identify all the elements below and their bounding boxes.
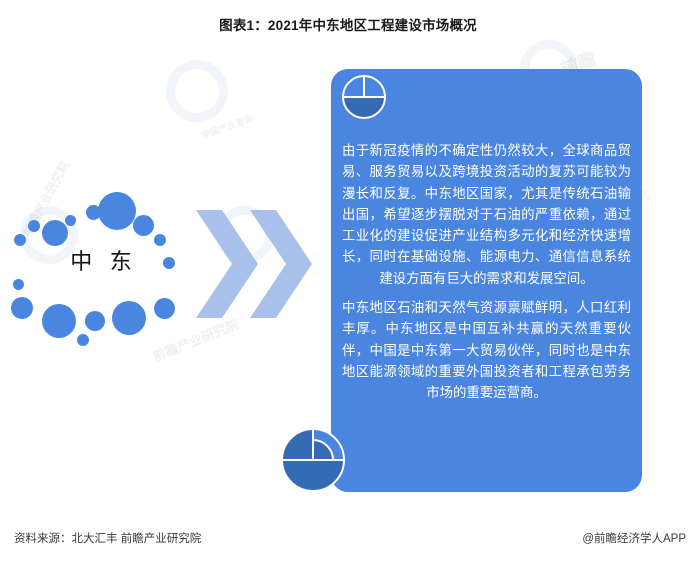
panel-paragraph-2: 中东地区石油和天然气资源禀赋鲜明，人口红利丰厚。中东地区是中国互补共赢的天然重要… (342, 297, 631, 403)
panel-paragraphs: 由于新冠疫情的不确定性仍然较大，全球商品贸易、服务贸易以及跨境投资活动的复苏可能… (342, 140, 631, 404)
region-label: 中 东 (14, 186, 194, 334)
panel-paragraph-1: 由于新冠疫情的不确定性仍然较大，全球商品贸易、服务贸易以及跨境投资活动的复苏可能… (342, 140, 631, 289)
watermark-text: 中国产业咨询 (199, 111, 254, 142)
double-chevron-right-icon (196, 210, 312, 318)
source-note: 资料来源：北大汇丰 前瞻产业研究院 (14, 530, 201, 546)
app-credit: @前瞻经济学人APP (582, 530, 686, 546)
quote-close-icon (281, 428, 345, 497)
watermark-logo-ring (166, 60, 228, 122)
bubble-dot (77, 334, 89, 346)
page-title: 图表1：2021年中东地区工程建设市场概况 (0, 14, 696, 34)
quote-open-icon (341, 74, 387, 125)
